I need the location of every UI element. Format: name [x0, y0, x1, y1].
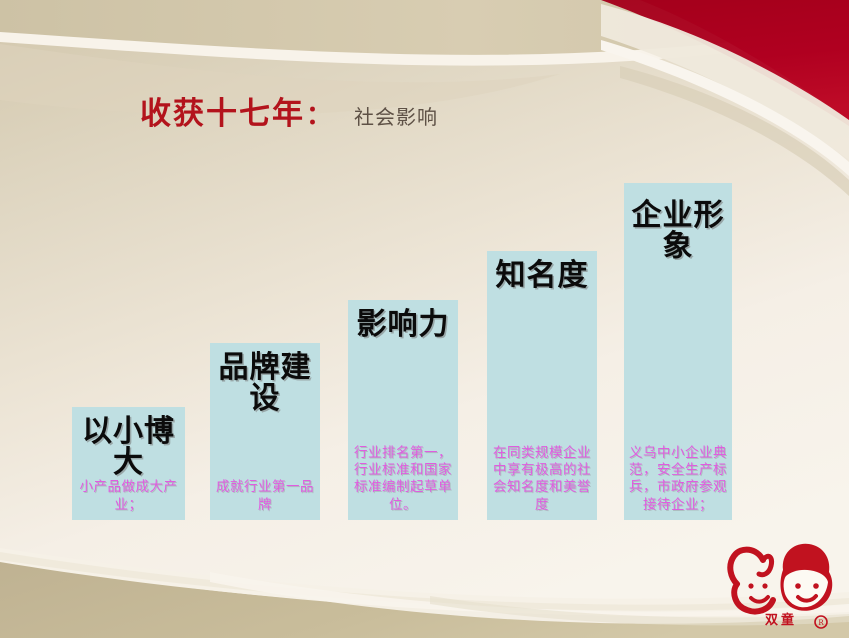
- chart-bar: 品牌建设成就行业第一品牌: [210, 343, 320, 520]
- slide-canvas: 收获十七年 ： 社会影响 以小博大小产品做成大产业；品牌建设成就行业第一品牌影响…: [0, 0, 849, 638]
- logo-caption: 双童: [723, 609, 839, 628]
- chart-bar: 影响力行业排名第一，行业标准和国家标准编制起草单位。: [348, 300, 458, 520]
- bar-chart: 以小博大小产品做成大产业；品牌建设成就行业第一品牌影响力行业排名第一，行业标准和…: [0, 0, 849, 638]
- chart-bar-description: 在同类规模企业中享有极高的社会知名度和美誉度: [487, 445, 597, 520]
- chart-bar-label: 知名度: [487, 251, 597, 292]
- chart-bar: 知名度在同类规模企业中享有极高的社会知名度和美誉度: [487, 251, 597, 520]
- chart-bar-description: 小产品做成大产业；: [72, 479, 185, 520]
- chart-bar: 以小博大小产品做成大产业；: [72, 407, 185, 520]
- company-logo: R 双童: [723, 530, 839, 630]
- chart-bar-description: 义乌中小企业典范，安全生产标兵，市政府参观接待企业；: [624, 445, 732, 520]
- chart-bar-description: 成就行业第一品牌: [210, 479, 320, 520]
- chart-bar: 企业形象义乌中小企业典范，安全生产标兵，市政府参观接待企业；: [624, 183, 732, 520]
- chart-bar-label: 企业形象: [624, 183, 732, 262]
- chart-bar-label: 影响力: [348, 300, 458, 341]
- chart-bar-label: 以小博大: [72, 407, 185, 478]
- chart-bar-description: 行业排名第一，行业标准和国家标准编制起草单位。: [348, 445, 458, 520]
- chart-bar-label: 品牌建设: [210, 343, 320, 414]
